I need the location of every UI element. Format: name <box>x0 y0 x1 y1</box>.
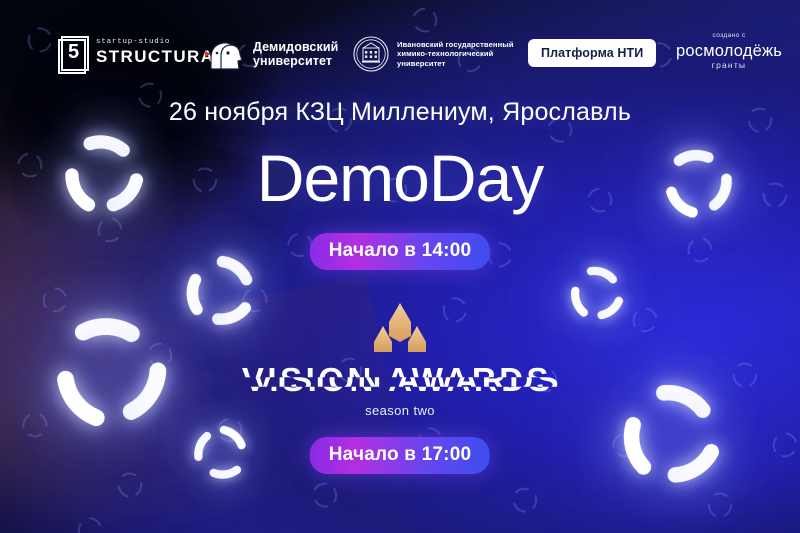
logo-isuct[interactable]: Ивановский государственный химико-технол… <box>353 35 514 73</box>
logo-structura[interactable]: 5 startup-studio STRUCTURA <box>58 35 214 69</box>
demidov-name: Демидовский университет <box>253 40 338 68</box>
structura-top-text: startup-studio <box>96 38 214 47</box>
vision-awards-subtitle: season two <box>0 403 800 418</box>
event-poster: 5 startup-studio STRUCTURA Демидовский у… <box>0 0 800 533</box>
structura-square-s-icon: 5 <box>58 35 88 69</box>
structura-name: STRUCTURA <box>96 47 214 66</box>
badge-vision-start-time: Начало в 17:00 <box>310 437 490 474</box>
demidov-profile-face-icon <box>203 36 245 72</box>
badge-vision-label: Начало в 17:00 <box>329 444 471 465</box>
button-platforma-nti[interactable]: Платформа НТИ <box>528 39 656 67</box>
vision-awards-triangle-icon <box>371 302 429 354</box>
partner-logo-bar: 5 startup-studio STRUCTURA Демидовский у… <box>0 27 800 83</box>
rosmolodezh-grants: гранты <box>676 61 782 70</box>
isuct-name: Ивановский государственный химико-технол… <box>397 40 514 69</box>
event-venue-date: 26 ноября КЗЦ Миллениум, Ярославль <box>0 98 800 127</box>
logo-rosmolodezh[interactable]: создано с росмолодёжь гранты <box>676 33 782 70</box>
vision-awards-block: VISION AWARDS VISION AWARDS VISION AWARD… <box>0 302 800 418</box>
vision-awards-title: VISION AWARDS VISION AWARDS VISION AWARD… <box>0 363 800 397</box>
badge-demoday-label: Начало в 14:00 <box>329 240 471 261</box>
rosmolodezh-created-with: создано с <box>676 33 782 40</box>
page-title: DemoDay <box>0 142 800 214</box>
logo-demidov-university[interactable]: Демидовский университет <box>203 36 338 72</box>
badge-demoday-start-time: Начало в 14:00 <box>310 233 490 270</box>
isuct-seal-icon <box>353 35 389 73</box>
rosmolodezh-name: росмолодёжь <box>676 43 782 60</box>
nti-label: Платформа НТИ <box>541 46 643 60</box>
